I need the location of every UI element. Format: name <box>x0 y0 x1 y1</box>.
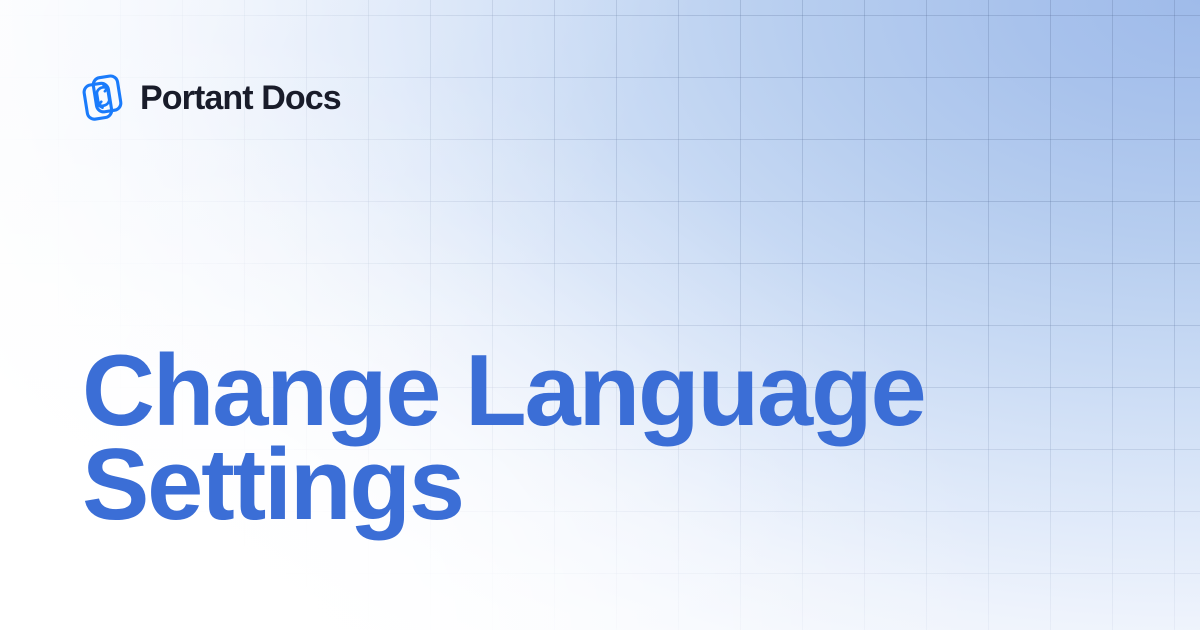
brand-name: Portant Docs <box>140 81 341 115</box>
page-title-line-1: Change Language <box>82 344 982 438</box>
og-card: Portant Docs Change Language Settings <box>0 0 1200 630</box>
brand-lockup: Portant Docs <box>82 72 341 124</box>
page-title-line-2: Settings <box>82 438 982 532</box>
page-title: Change Language Settings <box>82 344 982 532</box>
portant-sync-documents-icon <box>82 73 126 123</box>
